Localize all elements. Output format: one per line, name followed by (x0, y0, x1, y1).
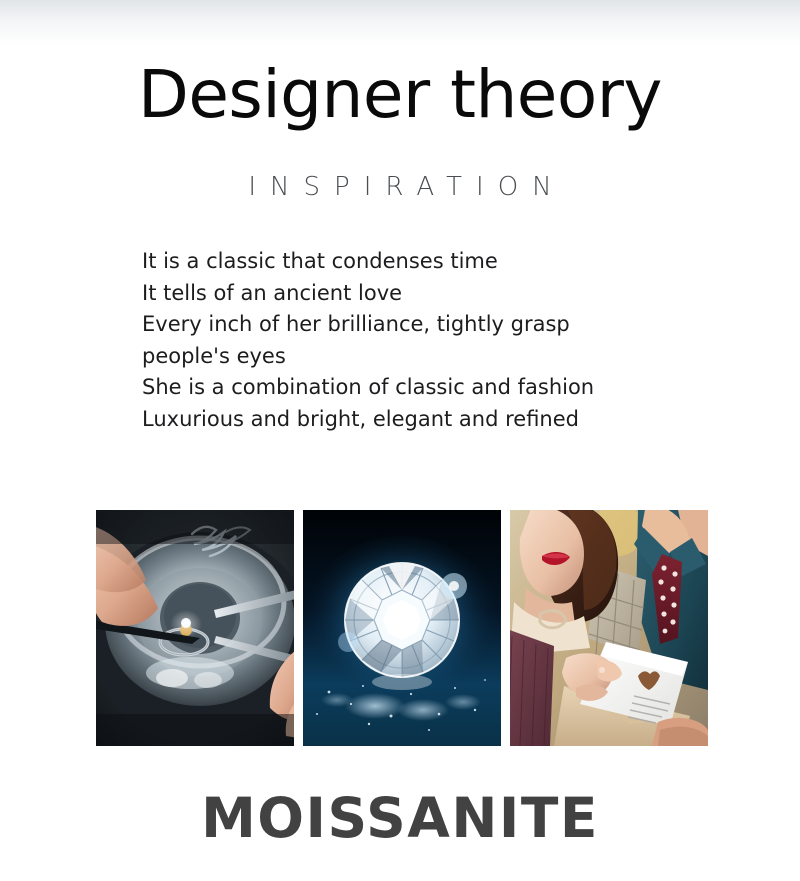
copy-line: It tells of an ancient love (142, 278, 702, 310)
photo-strip (96, 510, 708, 746)
copy-line: Every inch of her brilliance, tightly gr… (142, 309, 702, 341)
subtitle-inspiration: INSPIRATION (0, 172, 800, 202)
page-title: Designer theory (0, 60, 800, 129)
jeweler-setting-stone-photo (96, 510, 294, 746)
top-gradient-wash (0, 0, 800, 46)
body-copy: It is a classic that condenses time It t… (142, 246, 702, 435)
couple-reading-card-photo (510, 510, 708, 746)
copy-line: She is a combination of classic and fash… (142, 372, 702, 404)
designer-theory-banner: Designer theory INSPIRATION It is a clas… (0, 0, 800, 881)
copy-line: people's eyes (142, 341, 702, 373)
brilliant-cut-diamond-photo (303, 510, 501, 746)
copy-line: Luxurious and bright, elegant and refine… (142, 404, 702, 436)
copy-line: It is a classic that condenses time (142, 246, 702, 278)
brand-wordmark: MOISSANITE (0, 786, 800, 850)
